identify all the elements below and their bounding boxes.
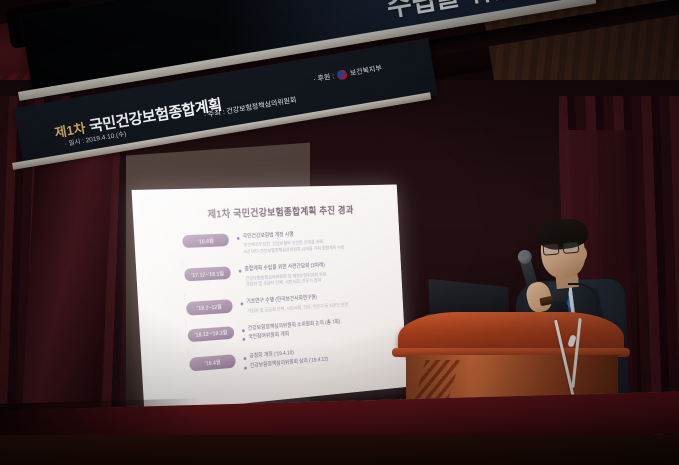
bullet-dot-icon xyxy=(237,237,240,240)
glasses-lens-left xyxy=(543,243,560,255)
stage-floor xyxy=(0,435,679,465)
timeline-badge: '16.8월 xyxy=(182,233,229,248)
bullet-dot-icon xyxy=(242,338,245,341)
timeline-body: 종합계획 수립을 위한 사전간담회 (3차례) 건강보험정책심의위원회 및 재정… xyxy=(238,262,327,290)
slide-title: 제1차 국민건강보험종합계획 추진 경과 xyxy=(169,201,387,222)
timeline-body: 국민건강보험법 개정 시행 보건복지부장관, 건강보험의 건전한 운영을 위해 … xyxy=(237,229,345,256)
bullet-dot-icon xyxy=(244,357,247,360)
timeline-badge: '19.4월 xyxy=(189,355,236,372)
sponsor-name-label: 보건복지부 xyxy=(349,63,382,78)
slide-content: 제1차 국민건강보험종합계획 추진 경과 '16.8월 국민건강보험법 개정 시… xyxy=(132,184,408,413)
bullet-dot-icon xyxy=(242,329,245,332)
glasses-lens-right xyxy=(562,242,579,254)
photo-scene: 제1차 국민건강보험종합계획 추진 경과 '16.8월 국민건강보험법 개정 시… xyxy=(0,0,679,465)
timeline-badge: '18.12~'19.3월 xyxy=(188,326,235,342)
sponsor-prefix-label: · 후원 : xyxy=(313,71,335,84)
timeline-badge: '17.12~'18.1월 xyxy=(184,267,231,282)
timeline-badge: '18.2~12월 xyxy=(186,300,233,316)
bullet-dot-icon xyxy=(244,366,247,369)
podium-top xyxy=(398,312,624,352)
projection-screen: 제1차 국민건강보험종합계획 추진 경과 '16.8월 국민건강보험법 개정 시… xyxy=(132,184,408,413)
bullet-dot-icon xyxy=(239,270,242,273)
sub-banner-sponsor: · 후원 : 보건복지부 xyxy=(313,63,383,84)
taegeuk-emblem-icon xyxy=(336,69,348,81)
curtain-center xyxy=(20,150,113,440)
bullet-text: 국민참여위원회 개최 xyxy=(248,332,289,343)
bullet-dot-icon xyxy=(241,303,244,306)
